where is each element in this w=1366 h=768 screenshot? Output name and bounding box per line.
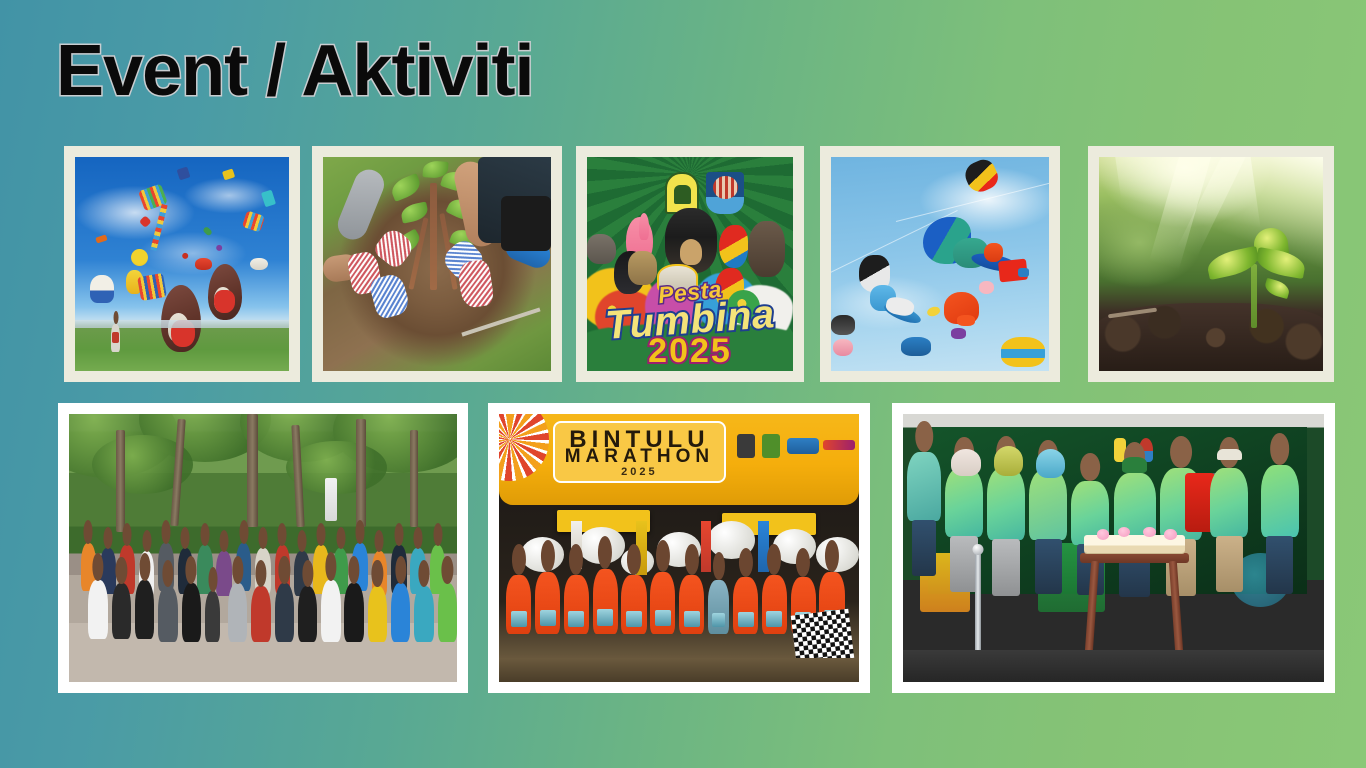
slide-canvas: Event / Aktiviti <box>0 0 1366 768</box>
poster-secondary-logo-icon <box>706 172 744 214</box>
photo-bintulu-marathon: BINTULU MARATHON 2025 <box>499 414 859 682</box>
photo-frame-pesta-tumbina[interactable]: Pesta Tumbina 2025 <box>576 146 804 382</box>
marathon-title-line2: MARATHON <box>555 446 724 468</box>
marathon-sunburst-icon <box>499 414 549 481</box>
marathon-year: 2025 <box>555 466 724 478</box>
photo-park-crowd <box>69 414 457 682</box>
photo-frame-tree-planting[interactable] <box>312 146 562 382</box>
photo-frame-kite-festival[interactable] <box>64 146 300 382</box>
photo-tree-planting <box>323 157 551 371</box>
sponsor-logo-state-icon <box>737 434 755 458</box>
photo-seedling <box>1099 157 1323 371</box>
sponsor-logo-bintulu-port-icon <box>787 438 819 454</box>
photo-frame-cake-ceremony[interactable] <box>892 403 1335 693</box>
page-title: Event / Aktiviti <box>56 34 533 110</box>
photo-frame-park-crowd[interactable] <box>58 403 468 693</box>
sponsor-logo-sarawak-icon <box>823 440 855 451</box>
photo-pesta-tumbina: Pesta Tumbina 2025 <box>587 157 793 371</box>
marathon-arch: BINTULU MARATHON 2025 <box>499 414 859 505</box>
sponsor-logo-council-icon <box>762 434 780 458</box>
photo-cake-ceremony <box>903 414 1324 682</box>
poster-year: 2025 <box>587 332 793 371</box>
photo-frame-seedling[interactable] <box>1088 146 1334 382</box>
photo-animal-kites <box>831 157 1049 371</box>
photo-kite-festival <box>75 157 289 371</box>
photo-frame-animal-kites[interactable] <box>820 146 1060 382</box>
photo-frame-bintulu-marathon[interactable]: BINTULU MARATHON 2025 <box>488 403 870 693</box>
